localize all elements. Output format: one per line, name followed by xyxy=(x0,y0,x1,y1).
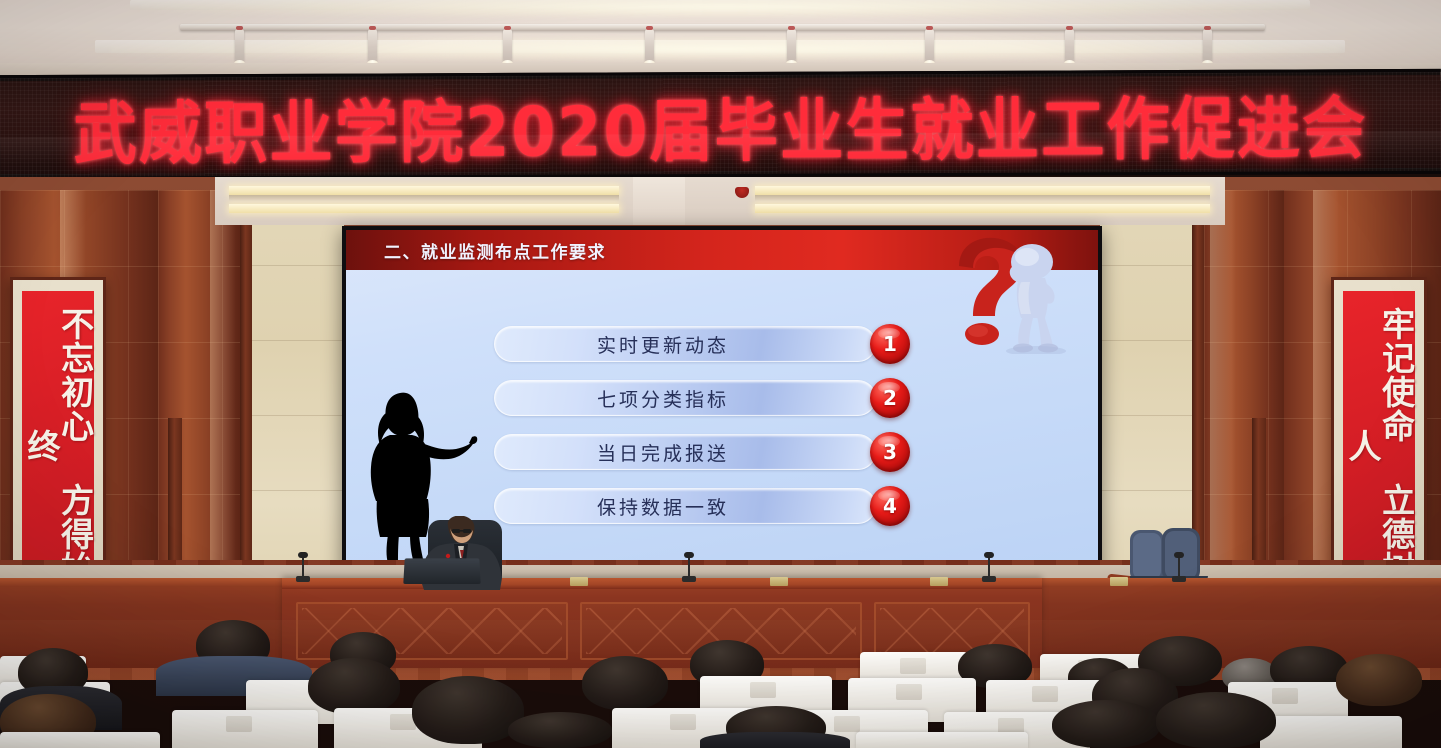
question-mark-icon xyxy=(933,232,1088,354)
microphone-icon xyxy=(302,556,304,578)
seat-cover xyxy=(0,732,160,748)
spotlight-icon xyxy=(368,29,377,63)
ceiling-light-glow xyxy=(110,36,1340,62)
attendee-head xyxy=(1156,692,1276,748)
attendee-head xyxy=(1052,700,1160,748)
list-item[interactable]: 当日完成报送 3 xyxy=(494,434,910,470)
audience-seating xyxy=(0,620,1441,748)
microphone-icon xyxy=(1178,556,1180,578)
bullet-pill[interactable]: 七项分类指标 xyxy=(494,380,876,416)
microphone-base xyxy=(982,576,996,582)
ceiling-light-glow xyxy=(140,0,1310,18)
spotlight-icon xyxy=(787,29,796,63)
list-item[interactable]: 保持数据一致 4 xyxy=(494,488,910,524)
laptop-computer xyxy=(403,558,480,584)
spotlight-icon xyxy=(925,29,934,63)
attendee-head xyxy=(1336,654,1422,706)
ceiling-soffit xyxy=(215,177,1225,225)
spotlight-icon xyxy=(1065,29,1074,63)
bullet-pill[interactable]: 实时更新动态 xyxy=(494,326,876,362)
name-placard xyxy=(1110,577,1128,586)
list-item[interactable]: 七项分类指标 2 xyxy=(494,380,910,416)
conference-hall-photo: 武威职业学院2020届毕业生就业工作促进会 不忘初心 方得始终 xyxy=(0,0,1441,748)
name-placard xyxy=(770,577,788,586)
bullet-pill[interactable]: 保持数据一致 xyxy=(494,488,876,524)
banner-scroll-left-text: 不忘初心 方得始终 xyxy=(24,291,91,600)
microphone-base xyxy=(1172,576,1186,582)
bullet-number-badge: 2 xyxy=(870,378,910,418)
spotlight-icon xyxy=(235,29,244,63)
microphone-icon xyxy=(988,556,990,578)
bullet-label: 保持数据一致 xyxy=(597,493,773,520)
seat-cover xyxy=(1260,716,1402,748)
bullet-number-badge: 3 xyxy=(870,432,910,472)
banner-scroll-right-text: 牢记使命 立德树人 xyxy=(1345,291,1412,600)
spotlight-icon xyxy=(1203,29,1212,63)
bullet-pill[interactable]: 当日完成报送 xyxy=(494,434,876,470)
attendee-head xyxy=(308,658,400,714)
seat-cover xyxy=(172,710,318,748)
seat-cover xyxy=(856,732,1028,748)
microphone-base xyxy=(296,576,310,582)
attendee-head xyxy=(508,712,612,748)
list-item[interactable]: 实时更新动态 1 xyxy=(494,326,910,362)
podium-surface xyxy=(282,578,1042,589)
slide-bullet-list: 实时更新动态 1 七项分类指标 2 当日完成报送 3 xyxy=(494,326,910,542)
slide-title: 二、就业监测布点工作要求 xyxy=(384,238,606,263)
microphone-base xyxy=(682,576,696,582)
lighting-track xyxy=(180,24,1265,31)
led-glass-reflection xyxy=(0,131,1441,177)
spotlight-icon xyxy=(503,29,512,63)
led-banner: 武威职业学院2020届毕业生就业工作促进会 xyxy=(0,69,1441,180)
attendee-shoulders xyxy=(700,732,850,748)
ceiling xyxy=(0,0,1441,70)
bullet-label: 七项分类指标 xyxy=(597,385,773,412)
spotlight-icon xyxy=(645,29,654,63)
attendee-head xyxy=(412,676,524,744)
name-placard xyxy=(930,577,948,586)
ceiling-sensor-icon xyxy=(735,187,749,198)
bullet-number-badge: 4 xyxy=(870,486,910,526)
microphone-icon xyxy=(688,556,690,578)
bullet-number-badge: 1 xyxy=(870,324,910,364)
bullet-label: 实时更新动态 xyxy=(597,331,773,358)
name-placard xyxy=(570,577,588,586)
bullet-label: 当日完成报送 xyxy=(597,439,773,466)
attendee-head xyxy=(582,656,668,710)
